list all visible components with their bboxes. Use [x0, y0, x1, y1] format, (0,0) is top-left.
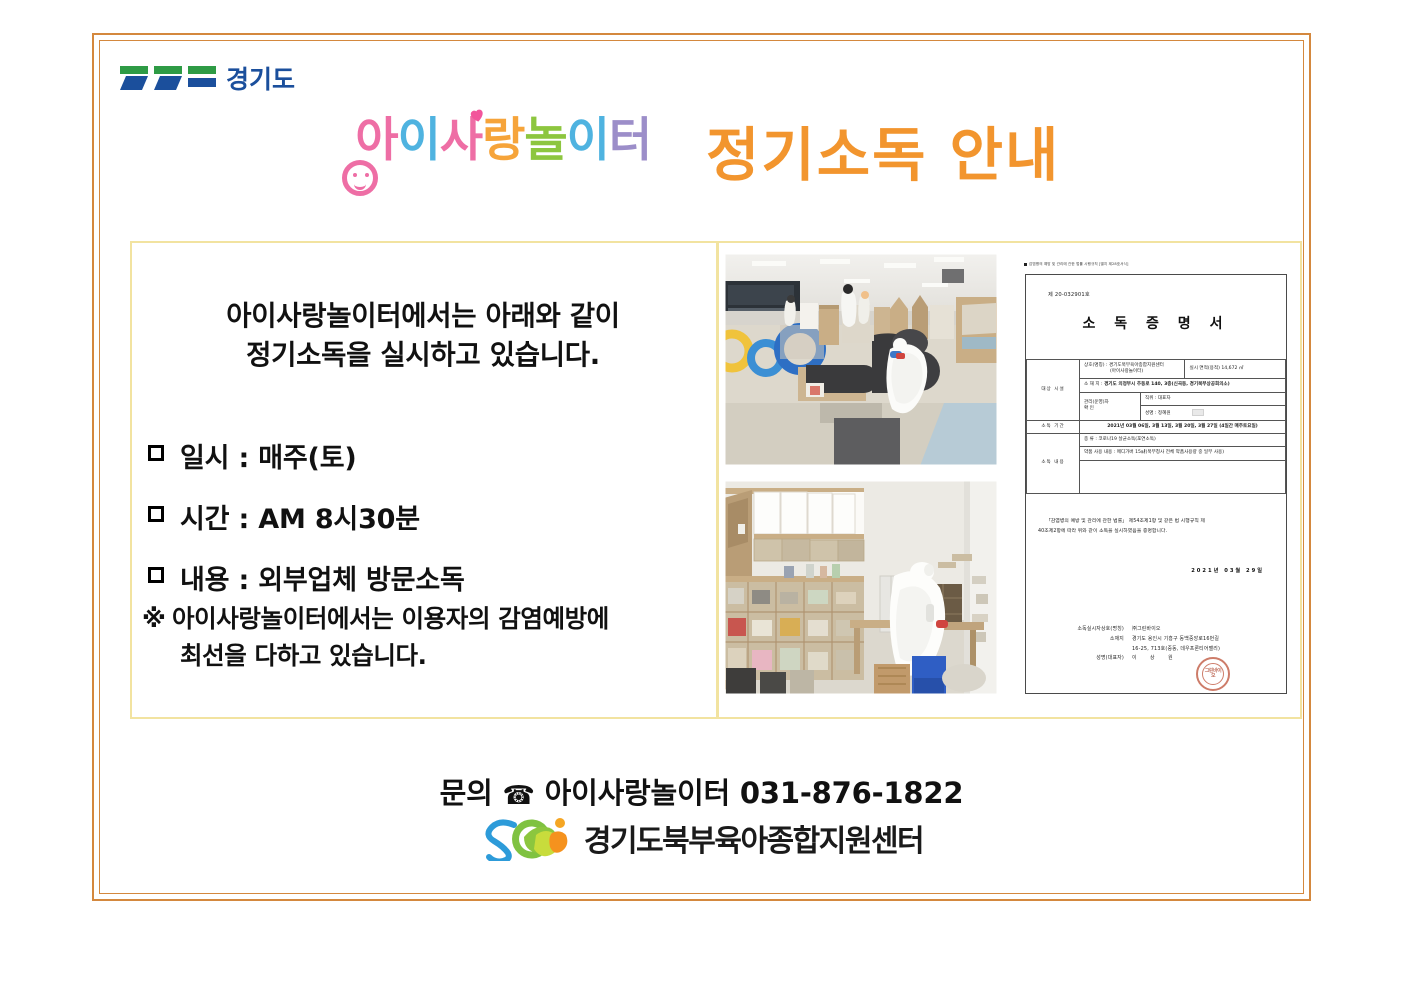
- signature-name-row: 성명(대표자) 이 상 원: [1060, 654, 1275, 664]
- intro-line-2: 정기소독을 실시하고 있습니다.: [130, 336, 716, 375]
- business-name-value: 경기도북부육아종합지원센터: [1109, 363, 1164, 368]
- reference-mark-icon: ※: [142, 601, 172, 638]
- legal-line-1: 「감염병의 예방 및 관리에 관한 법률」 제54조제1항 및 같은 법 시행규…: [1038, 517, 1276, 527]
- brand-char-4: 랑: [482, 113, 524, 168]
- table-row: 소독 내용 종 류 : 코로나19 살균소독(포연소독): [1027, 434, 1286, 447]
- aisarang-playground-logo: 아이사랑놀이터: [340, 110, 651, 172]
- inquiry-prefix: 문의: [440, 776, 493, 810]
- table-row: 소독 기간 2021년 03월 06일, 3월 13일, 3월 20일, 3월 …: [1027, 420, 1286, 433]
- column-divider: [716, 241, 719, 719]
- center-name-label: 경기도북부육아종합지원센터: [584, 816, 923, 860]
- signature-address-row: 소재지 경기도 용인시 기흥구 동백중앙로16번길: [1060, 635, 1275, 645]
- manager-label: 관리(운영)자: [1084, 400, 1109, 405]
- bullet-label-content: 내용 : 외부업체 방문소독: [180, 558, 465, 597]
- cell-manager-name: 성명 : 정혜원: [1141, 405, 1286, 420]
- photo-playroom-disinfection: [724, 253, 998, 466]
- checkbox-icon: [148, 567, 164, 583]
- cell-period-label: 소독 기간: [1027, 420, 1080, 433]
- brand-char-5: 놀: [524, 113, 566, 168]
- page-title: 정기소독 안내: [706, 108, 1060, 192]
- manager-seal-placeholder: [1192, 409, 1204, 416]
- cell-content-blank: [1080, 460, 1286, 493]
- signature-company-label: 소독실시자상호(명칭): [1060, 625, 1132, 635]
- cell-content-type: 종 류 : 코로나19 살균소독(포연소독): [1080, 434, 1286, 447]
- telephone-icon: ☎: [503, 781, 535, 811]
- certificate-body: 제 20-032901호 소 독 증 명 서 대상 시설 상호(명칭) : 경기…: [1025, 274, 1287, 694]
- address-label: 소 재 지 :: [1084, 382, 1103, 387]
- address-value: 경기도 의정부시 추동로 140, 3층(신곡동, 경기북부상공회의소): [1104, 382, 1230, 387]
- checkbox-icon: [148, 506, 164, 522]
- checkbox-icon: [148, 445, 164, 461]
- footnote-line-2: 최선을 다하고 있습니다.: [142, 638, 712, 675]
- photo-storage-room-disinfection: [724, 480, 998, 695]
- certificate-form-note: 감염병의 예방 및 관리에 관한 법률 시행규칙 [별지 제28호서식]: [1024, 262, 1128, 267]
- notice-text-column: 아이사랑놀이터에서는 아래와 같이 정기소독을 실시하고 있습니다. 일시 : …: [130, 241, 716, 719]
- certificate-title: 소 독 증 명 서: [1026, 313, 1286, 333]
- cell-content-chem: 약품 사용 내용 : 메디가버 15㎖(북부청사 전체 약품사용량 중 일부 사…: [1080, 447, 1286, 460]
- form-note-text: 감염병의 예방 및 관리에 관한 법률 시행규칙 [별지 제28호서식]: [1029, 262, 1128, 266]
- signature-company-row: 소독실시자상호(명칭) ㈜그린바이오: [1060, 625, 1275, 635]
- notice-footnote: ※아이사랑놀이터에서는 이용자의 감염예방에 최선을 다하고 있습니다.: [142, 601, 712, 675]
- signature-spacer: [1060, 645, 1132, 655]
- list-item: 일시 : 매주(토): [148, 436, 708, 475]
- poster-page: 경기도 아이사랑놀이터 정기소독 안내 아이사랑놀이터에서는 아래와 같이 정기…: [0, 0, 1403, 992]
- certificate-issue-date: 2021년 03월 29일: [1191, 567, 1264, 574]
- list-item: 내용 : 외부업체 방문소독: [148, 558, 708, 597]
- confirm-label: 확 인: [1084, 406, 1094, 411]
- signature-address-label: 소재지: [1060, 635, 1132, 645]
- area-value: 14,672 ㎡: [1221, 366, 1243, 371]
- official-seal-icon: 그린바이오: [1196, 657, 1230, 691]
- certificate-legal-text: 「감염병의 예방 및 관리에 관한 법률」 제54조제1항 및 같은 법 시행규…: [1038, 517, 1276, 537]
- signature-address-line-1: 경기도 용인시 기흥구 동백중앙로16번길: [1132, 635, 1275, 645]
- footer-center-block: 경기도북부육아종합지원센터: [0, 815, 1403, 861]
- gyeonggi-do-label: 경기도: [226, 65, 295, 94]
- intro-text: 아이사랑놀이터에서는 아래와 같이 정기소독을 실시하고 있습니다.: [130, 297, 716, 375]
- cell-position: 직위 : 대표자: [1141, 392, 1286, 405]
- bullet-label-date: 일시 : 매주(토): [180, 436, 356, 475]
- cell-business-name: 상호(명칭) : 경기도북부육아종합지원센터 (아이사랑놀이터): [1080, 360, 1185, 379]
- cell-area: 실시 면적(용적) 14,672 ㎡: [1185, 360, 1286, 379]
- area-label: 실시 면적(용적): [1189, 366, 1219, 371]
- inquiry-place: 아이사랑놀이터: [545, 776, 730, 810]
- notice-bullet-list: 일시 : 매주(토) 시간 : AM 8시30분 내용 : 외부업체 방문소독: [148, 436, 708, 619]
- certificate-signature-block: 소독실시자상호(명칭) ㈜그린바이오 소재지 경기도 용인시 기흥구 동백중앙로…: [1060, 625, 1275, 664]
- footnote-line-1: 아이사랑놀이터에서는 이용자의 감염예방에: [172, 604, 609, 633]
- list-item: 시간 : AM 8시30분: [148, 497, 708, 536]
- signature-name-label: 성명(대표자): [1060, 654, 1132, 664]
- brand-char-2: 이: [398, 113, 440, 168]
- manager-name-text: 성명 : 정혜원: [1145, 411, 1171, 416]
- brand-char-6: 이: [567, 113, 609, 168]
- cell-period-value: 2021년 03월 06일, 3월 13일, 3월 20일, 3월 27일 (4…: [1080, 420, 1286, 433]
- cell-manager-label: 관리(운영)자 확 인: [1080, 392, 1141, 420]
- bullet-label-time: 시간 : AM 8시30분: [180, 497, 420, 536]
- signature-company-value: ㈜그린바이오: [1132, 625, 1275, 635]
- business-name-sub: (아이사랑놀이터): [1084, 369, 1143, 374]
- inquiry-phone-number: 031-876-1822: [740, 776, 963, 810]
- cell-address: 소 재 지 : 경기도 의정부시 추동로 140, 3층(신곡동, 경기북부상공…: [1080, 379, 1286, 392]
- certificate-table: 대상 시설 상호(명칭) : 경기도북부육아종합지원센터 (아이사랑놀이터) 실…: [1026, 359, 1286, 494]
- cell-content-label: 소독 내용: [1027, 434, 1080, 493]
- signature-address-line-2: 16-25, 713호(중동, 데우프론티어밸리): [1132, 645, 1275, 655]
- heart-icon: [466, 104, 487, 125]
- intro-line-1: 아이사랑놀이터에서는 아래와 같이: [130, 297, 716, 336]
- legal-line-2: 40조제2항에 따라 위와 같이 소독을 실시하였음을 증명합니다.: [1038, 529, 1167, 534]
- seal-text: 그린바이오: [1202, 663, 1224, 685]
- brand-char-7: 터: [609, 113, 651, 168]
- signature-address-row-2: 16-25, 713호(중동, 데우프론티어밸리): [1060, 645, 1275, 655]
- certificate-number: 제 20-032901호: [1048, 291, 1090, 298]
- table-row: 대상 시설 상호(명칭) : 경기도북부육아종합지원센터 (아이사랑놀이터) 실…: [1027, 360, 1286, 379]
- gyeonggi-do-logo: 경기도: [118, 62, 318, 102]
- cell-facility-label: 대상 시설: [1027, 360, 1080, 421]
- footer-inquiry-line: 문의 ☎ 아이사랑놀이터 031-876-1822: [0, 770, 1403, 812]
- disinfection-certificate: 감염병의 예방 및 관리에 관한 법률 시행규칙 [별지 제28호서식] 제 2…: [1016, 252, 1296, 704]
- childcare-support-center-logo: [480, 815, 576, 861]
- business-name-label: 상호(명칭) :: [1084, 363, 1108, 368]
